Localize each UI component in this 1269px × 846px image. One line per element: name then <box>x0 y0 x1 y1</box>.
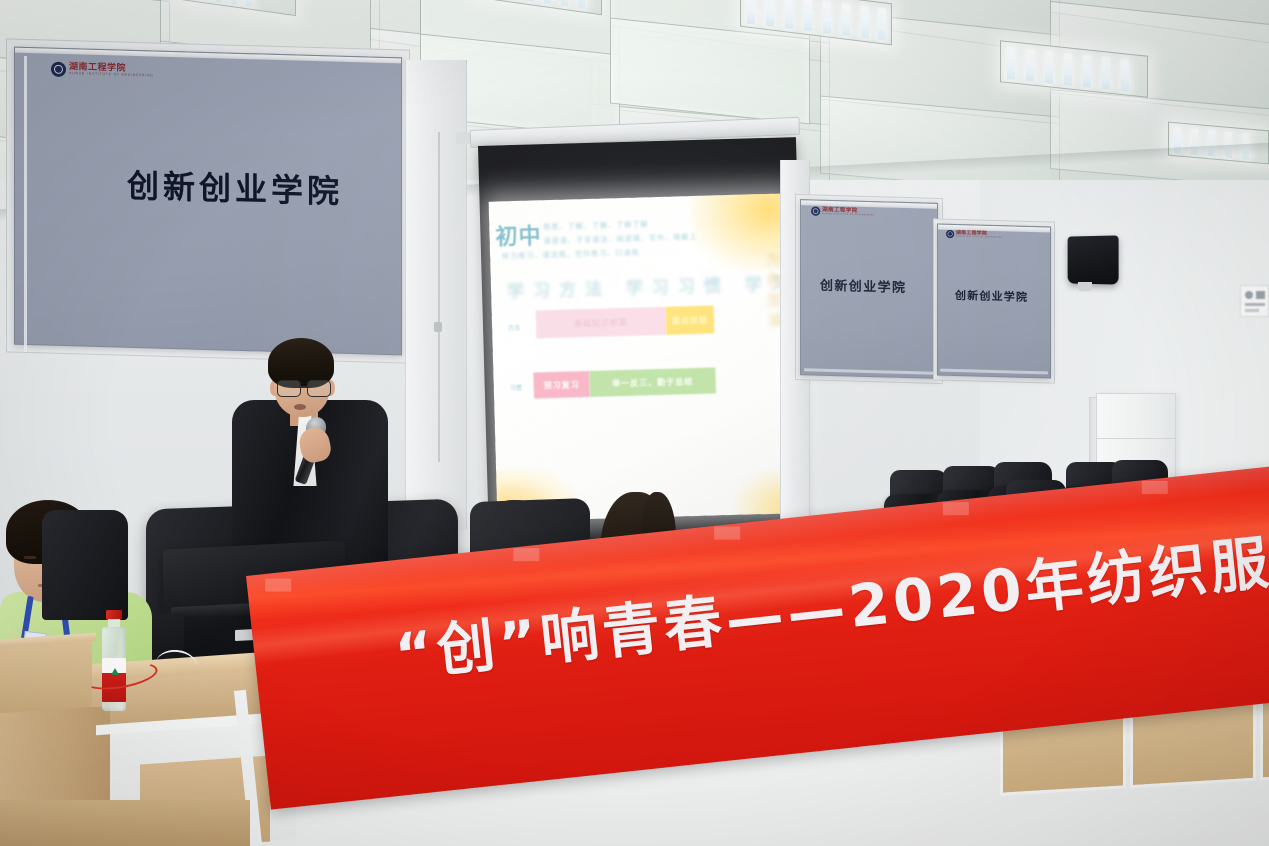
institution-name-en: HUNAN INSTITUTE OF ENGINEERING <box>822 213 875 216</box>
slide-row-label-1: 方法 <box>508 323 520 332</box>
wall-sign-title-right: 创新创业学院 <box>955 287 1028 305</box>
institution-emblem-icon <box>946 230 954 238</box>
wall-sign-left: 湖南工程学院 HUNAN INSTITUTE OF ENGINEERING 创新… <box>14 47 402 356</box>
institution-logo-left: 湖南工程学院 HUNAN INSTITUTE OF ENGINEERING <box>51 62 154 80</box>
eyeglasses-right-lens-icon <box>307 380 331 397</box>
slide-chip-1-1: 基础知识积累 <box>536 307 667 339</box>
slide-chip-1-2: 重点突破 <box>666 305 715 334</box>
projection-screen: 初中 熟悉、了解、了解、了解了解 语音语、子言语法、阅读理、写作、理解上 听力练… <box>478 137 807 546</box>
wall-sign-title-center: 创新创业学院 <box>820 275 906 296</box>
slide-subline-1: 熟悉、了解、了解、了解了解 <box>543 219 649 232</box>
wall-column-left <box>405 60 467 530</box>
wall-notice-sign <box>1240 285 1269 317</box>
banner-tape <box>265 579 291 592</box>
institution-emblem-icon <box>51 62 66 77</box>
slide-row-label-2: 习惯 <box>510 383 522 392</box>
presenter-mouth <box>294 404 306 410</box>
screen-mount-bracket <box>456 132 470 144</box>
wall-sign-right: 湖南工程学院 HUNAN INSTITUTE OF ENGINEERING 创新… <box>937 224 1051 379</box>
student-chair[interactable] <box>42 510 128 620</box>
banner-tape <box>943 502 969 515</box>
roller-bottom-bar <box>940 369 1048 375</box>
institution-logo-center: 湖南工程学院 HUNAN INSTITUTE OF ENGINEERING <box>811 206 875 217</box>
podium-face <box>0 637 92 713</box>
banner-tape <box>513 548 539 561</box>
slide-chip-2-2: 举一反三、勤于总结 <box>589 367 716 397</box>
slide-chip-2-1: 预习复习 <box>533 371 590 399</box>
roller-blind-cord-left <box>24 56 27 352</box>
conference-room-photo: 湖南工程学院 HUNAN INSTITUTE OF ENGINEERING 创新… <box>0 0 1269 846</box>
roller-bottom-bar <box>804 368 935 375</box>
slide-heading: 初中 <box>495 218 542 251</box>
institution-logo-right: 湖南工程学院 HUNAN INSTITUTE OF ENGINEERING <box>946 230 1003 240</box>
wall-speaker-icon <box>1068 235 1119 284</box>
eyeglasses-left-lens-icon <box>277 380 301 397</box>
institution-name-en: HUNAN INSTITUTE OF ENGINEERING <box>956 236 1003 239</box>
floor-foreground <box>0 800 250 846</box>
wall-sign-center: 湖南工程学院 HUNAN INSTITUTE OF ENGINEERING 创新… <box>800 199 938 379</box>
student-eye-left <box>24 556 36 559</box>
slide-surface: 初中 熟悉、了解、了解、了解了解 语音语、子言语法、阅读理、写作、理解上 听力练… <box>489 193 798 521</box>
institution-name-en: HUNAN INSTITUTE OF ENGINEERING <box>69 73 154 79</box>
slide-subline-2: 语音语、子言语法、阅读理、写作、理解上 <box>544 232 698 246</box>
institution-emblem-icon <box>811 206 820 216</box>
screen-pull-cord <box>438 132 440 462</box>
banner-tape <box>1142 481 1168 494</box>
banner-tape <box>714 527 740 540</box>
slide-big-row: 学习方法 学习习惯 学习态度 <box>507 268 798 303</box>
wall-speaker-bracket <box>1078 282 1092 291</box>
eyeglasses-bridge-icon <box>299 386 307 388</box>
cord-toggle <box>434 322 442 332</box>
wall-sign-title-left: 创新创业学院 <box>127 161 343 213</box>
